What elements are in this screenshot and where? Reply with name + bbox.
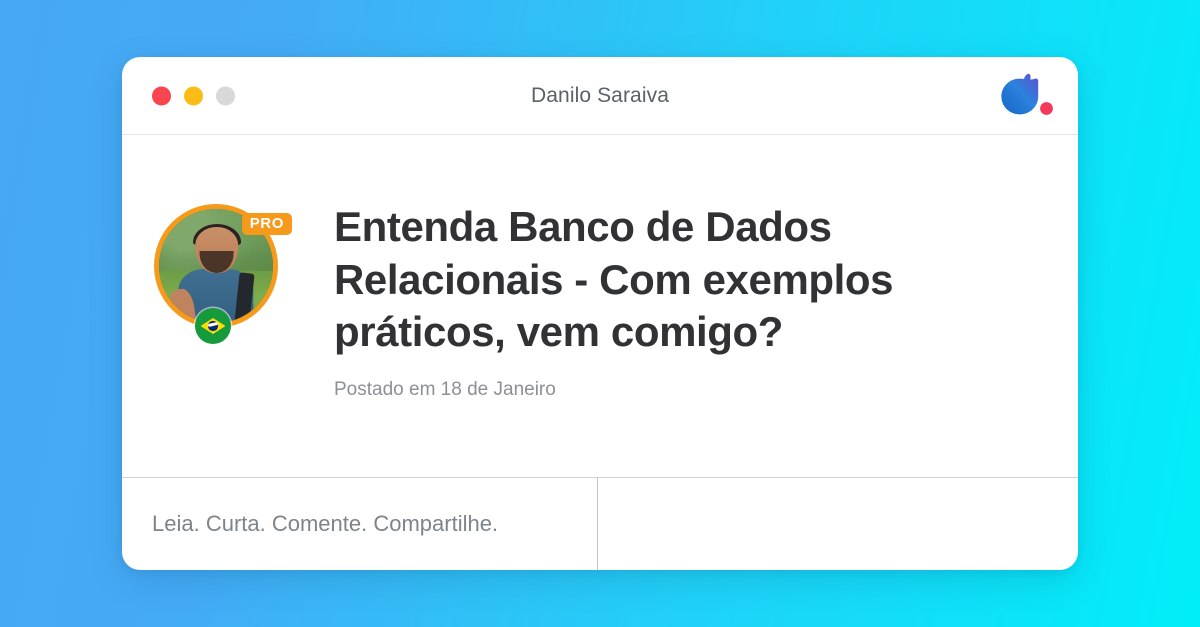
post-body: PRO Entenda Banco de Dados Relacionais -…	[122, 135, 1078, 478]
post-text-column: Entenda Banco de Dados Relacionais - Com…	[282, 201, 1044, 477]
window-controls	[152, 86, 235, 105]
minimize-button[interactable]	[184, 86, 203, 105]
window-title: Danilo Saraiva	[122, 84, 1078, 108]
page-title: Entenda Banco de Dados Relacionais - Com…	[334, 201, 1004, 359]
footer-tagline: Leia. Curta. Comente. Compartilhe.	[152, 511, 498, 537]
author-avatar-block[interactable]: PRO	[154, 204, 282, 332]
status-badge-pro: PRO	[242, 213, 292, 235]
close-button[interactable]	[152, 86, 171, 105]
zoom-button[interactable]	[216, 86, 235, 105]
footer-empty-cell	[598, 478, 1078, 570]
post-preview-card: Danilo Saraiva	[122, 57, 1078, 570]
card-footer: Leia. Curta. Comente. Compartilhe.	[122, 478, 1078, 570]
post-date: Postado em 18 de Janeiro	[334, 379, 1044, 401]
footer-tagline-cell: Leia. Curta. Comente. Compartilhe.	[122, 478, 598, 570]
window-title-bar: Danilo Saraiva	[122, 57, 1078, 135]
brazil-flag-icon	[195, 308, 231, 344]
brand-droplet-logo-icon	[996, 72, 1056, 120]
